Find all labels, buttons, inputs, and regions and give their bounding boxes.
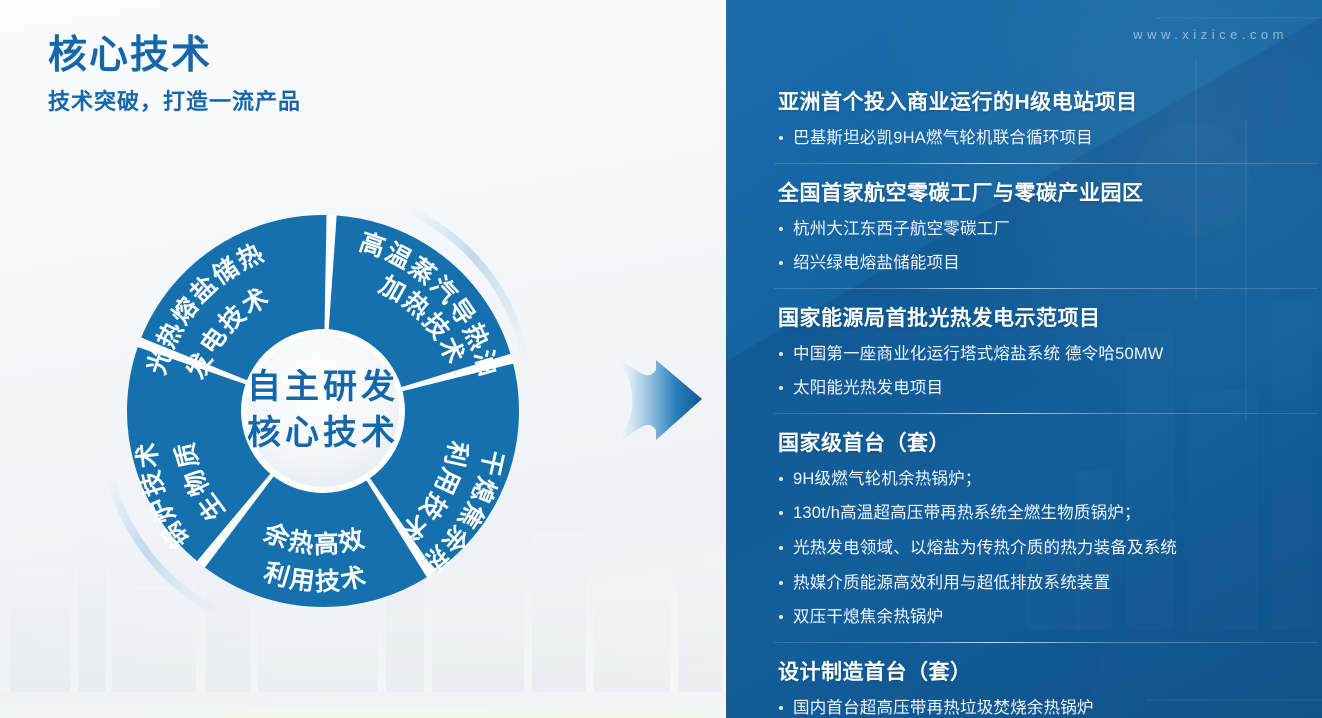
site-watermark: www.xizice.com xyxy=(1133,27,1288,42)
left-panel: 核心技术 技术突破，打造一流产品 xyxy=(0,0,726,718)
section-2: 全国首家航空零碳工厂与零碳产业园区 杭州大江东西子航空零碳工厂 绍兴绿电熔盐储能… xyxy=(778,177,1298,277)
section-divider-4 xyxy=(774,642,1318,643)
section-2-bullet-2: 绍兴绿电熔盐储能项目 xyxy=(778,251,1298,277)
page-subtitle: 技术突破，打造一流产品 xyxy=(48,84,301,116)
section-3-bullet-2: 太阳能光热发电项目 xyxy=(778,376,1298,402)
section-divider-2 xyxy=(774,288,1318,289)
section-4: 国家级首台（套） 9H级燃气轮机余热锅炉； 130t/h高温超高压带再热系统全燃… xyxy=(778,427,1298,631)
section-3-bullet-1: 中国第一座商业化运行塔式熔盐系统 德令哈50MW xyxy=(778,342,1298,368)
section-3-title: 国家能源局首批光热发电示范项目 xyxy=(778,302,1298,332)
section-4-bullet-1: 9H级燃气轮机余热锅炉； xyxy=(778,467,1298,493)
donut-svg: 光热熔盐储热 发电技术 高温蒸汽导热油 加热技术 干熄焦余热 利用技术 xyxy=(88,176,558,646)
section-5-title: 设计制造首台（套） xyxy=(778,656,1298,686)
flow-arrow xyxy=(604,336,726,466)
section-4-bullet-5: 双压干熄焦余热锅炉 xyxy=(778,605,1298,631)
section-2-title: 全国首家航空零碳工厂与零碳产业园区 xyxy=(778,177,1298,207)
section-4-bullet-3: 光热发电领域、以熔盐为传热介质的热力装备及系统 xyxy=(778,536,1298,562)
section-1: 亚洲首个投入商业运行的H级电站项目 巴基斯坦必凯9HA燃气轮机联合循环项目 xyxy=(778,86,1298,152)
donut-core xyxy=(247,335,399,487)
section-4-bullet-4: 热媒介质能源高效利用与超低排放系统装置 xyxy=(778,571,1298,597)
donut-center-line2: 核心技术 xyxy=(247,414,399,452)
slide-root: 核心技术 技术突破，打造一流产品 xyxy=(0,0,1322,718)
section-4-bullet-2: 130t/h高温超高压带再热系统全燃生物质锅炉； xyxy=(778,501,1298,527)
section-divider-3 xyxy=(774,413,1318,414)
section-divider-1 xyxy=(774,163,1318,164)
section-5-bullet-1: 国内首台超高压带再热垃圾焚烧余热锅炉 xyxy=(778,696,1298,718)
section-3: 国家能源局首批光热发电示范项目 中国第一座商业化运行塔式熔盐系统 德令哈50MW… xyxy=(778,302,1298,402)
achievement-sections: 亚洲首个投入商业运行的H级电站项目 巴基斯坦必凯9HA燃气轮机联合循环项目 全国… xyxy=(778,86,1298,718)
donut-center-line1: 自主研发 xyxy=(247,368,399,406)
section-2-bullet-1: 杭州大江东西子航空零碳工厂 xyxy=(778,217,1298,243)
right-arrow-icon xyxy=(604,336,726,466)
section-1-title: 亚洲首个投入商业运行的H级电站项目 xyxy=(778,86,1298,116)
section-4-title: 国家级首台（套） xyxy=(778,427,1298,457)
page-title: 核心技术 xyxy=(48,24,212,80)
right-panel: www.xizice.com 亚洲首个投入商业运行的H级电站项目 巴基斯坦必凯9… xyxy=(726,0,1322,718)
section-1-bullet-1: 巴基斯坦必凯9HA燃气轮机联合循环项目 xyxy=(778,126,1298,152)
arrow-shape xyxy=(612,354,702,448)
section-5: 设计制造首台（套） 国内首台超高压带再热垃圾焚烧余热锅炉 xyxy=(778,656,1298,718)
core-technology-donut: 光热熔盐储热 发电技术 高温蒸汽导热油 加热技术 干熄焦余热 利用技术 xyxy=(88,176,558,646)
